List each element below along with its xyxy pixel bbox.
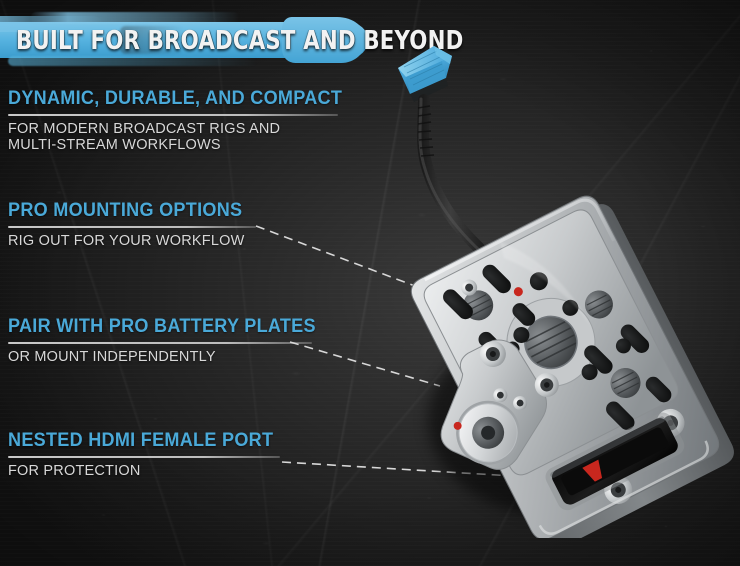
- feature-heading-3: PAIR WITH PRO BATTERY PLATES: [8, 316, 331, 338]
- feature-divider-1: [8, 114, 338, 116]
- feature-divider-3: [8, 342, 312, 344]
- banner-title-text: BUILT FOR BROADCAST AND BEYOND: [16, 25, 303, 57]
- feature-block-1: DYNAMIC, DURABLE, AND COMPACT FOR MODERN…: [8, 88, 348, 153]
- feature-subtitle-line: FOR MODERN BROADCAST RIGS AND: [8, 122, 348, 138]
- title-banner: BUILT FOR BROADCAST AND BEYOND: [0, 18, 372, 64]
- hdmi-male-connector: [398, 46, 452, 102]
- brush-splatter-top: [30, 12, 240, 24]
- feature-heading-1: DYNAMIC, DURABLE, AND COMPACT: [8, 88, 331, 110]
- feature-divider-2: [8, 226, 256, 228]
- brush-splatter-bottom: [8, 56, 258, 66]
- feature-subtitle-line: OR MOUNT INDEPENDENTLY: [8, 350, 348, 366]
- feature-divider-4: [8, 456, 280, 458]
- feature-subtitle-1: FOR MODERN BROADCAST RIGS AND MULTI-STRE…: [8, 122, 348, 153]
- feature-subtitle-3: OR MOUNT INDEPENDENTLY: [8, 350, 348, 366]
- coiled-cable: [418, 99, 492, 260]
- mounting-plate-body: [380, 187, 739, 538]
- feature-subtitle-line: RIG OUT FOR YOUR WORKFLOW: [8, 234, 348, 250]
- feature-subtitle-4: FOR PROTECTION: [8, 464, 348, 480]
- feature-block-2: PRO MOUNTING OPTIONS RIG OUT FOR YOUR WO…: [8, 200, 348, 250]
- feature-block-4: NESTED HDMI FEMALE PORT FOR PROTECTION: [8, 430, 348, 480]
- feature-subtitle-line: FOR PROTECTION: [8, 464, 348, 480]
- promo-graphic: BUILT FOR BROADCAST AND BEYOND DYNAMIC, …: [0, 0, 740, 566]
- feature-subtitle-line: MULTI-STREAM WORKFLOWS: [8, 138, 348, 154]
- feature-block-3: PAIR WITH PRO BATTERY PLATES OR MOUNT IN…: [8, 316, 348, 366]
- feature-heading-2: PRO MOUNTING OPTIONS: [8, 200, 331, 222]
- product-image: [380, 28, 740, 538]
- feature-heading-4: NESTED HDMI FEMALE PORT: [8, 430, 331, 452]
- feature-subtitle-2: RIG OUT FOR YOUR WORKFLOW: [8, 234, 348, 250]
